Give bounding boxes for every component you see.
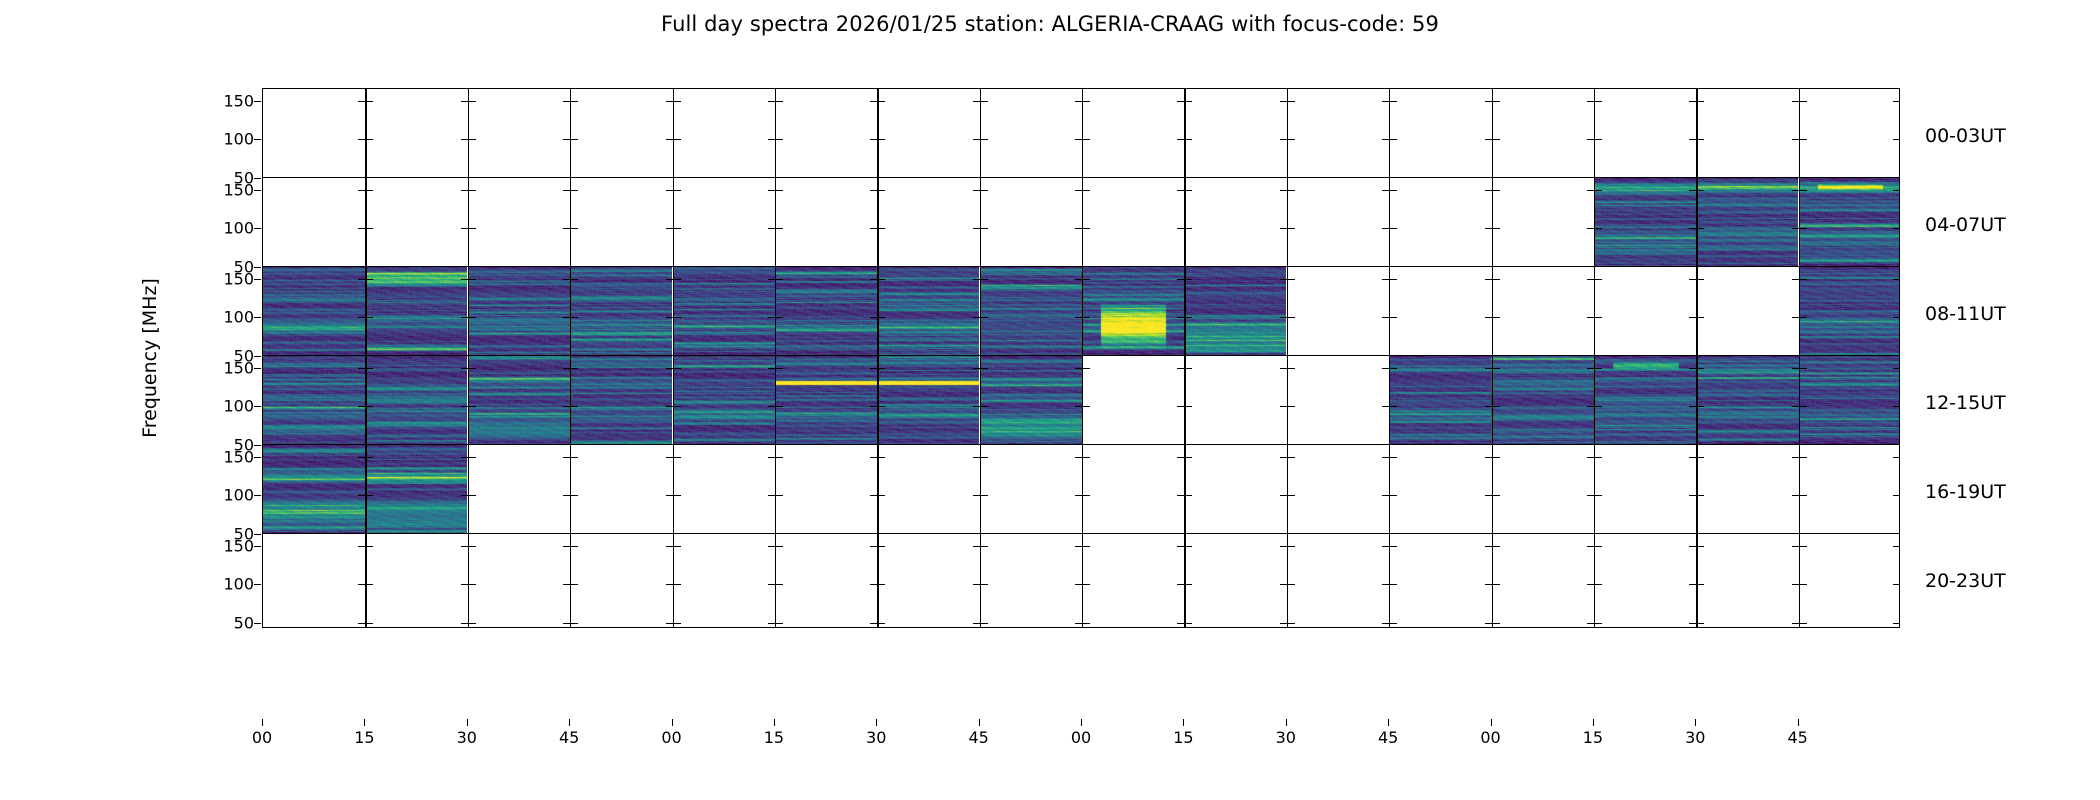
inner-y-tick — [571, 190, 578, 191]
spectrogram-segment — [468, 356, 570, 449]
spectrogram-segment — [570, 267, 672, 360]
inner-y-tick — [1595, 495, 1602, 496]
inner-y-tick — [1493, 495, 1500, 496]
inner-y-tick — [1800, 457, 1807, 458]
inner-y-tick — [1390, 584, 1397, 585]
inner-y-tick — [469, 457, 476, 458]
spectrogram-segment — [1799, 356, 1900, 449]
subpanel-separator — [570, 178, 571, 271]
inner-y-tick — [973, 228, 980, 229]
y-axis-tick — [254, 279, 261, 280]
y-axis-tick — [254, 317, 261, 318]
row-time-label: 16-19UT — [1925, 481, 2006, 503]
inner-y-tick — [1083, 368, 1090, 369]
subpanel-separator — [980, 89, 981, 182]
y-axis-tick-label: 150 — [182, 536, 254, 555]
inner-y-tick — [1485, 546, 1492, 547]
inner-y-tick — [776, 101, 783, 102]
inner-y-tick — [1893, 546, 1900, 547]
subpanel-separator — [1696, 445, 1697, 538]
inner-y-tick — [674, 495, 681, 496]
inner-y-tick — [666, 139, 673, 140]
x-axis-tick — [364, 719, 365, 726]
inner-y-tick — [1390, 623, 1397, 624]
subpanel-separator — [468, 178, 469, 271]
inner-y-tick — [1185, 101, 1192, 102]
inner-y-tick — [1382, 190, 1389, 191]
inner-y-tick — [1485, 139, 1492, 140]
spectrogram-data-block — [1594, 178, 1900, 272]
inner-y-tick — [1697, 279, 1704, 280]
subpanel-separator — [1287, 89, 1288, 182]
inner-y-tick — [1288, 139, 1295, 140]
inner-y-tick — [878, 228, 885, 229]
inner-y-tick — [1382, 317, 1389, 318]
inner-y-tick — [776, 139, 783, 140]
inner-y-tick — [870, 495, 877, 496]
inner-y-tick — [1280, 495, 1287, 496]
subpanel-separator — [1594, 534, 1595, 627]
subpanel-separator — [468, 89, 469, 182]
x-axis-tick — [1183, 719, 1184, 726]
y-axis-tick-label: 100 — [182, 397, 254, 416]
x-axis-tick-label: 30 — [1685, 728, 1705, 747]
subpanel-separator — [1389, 89, 1390, 182]
inner-y-tick — [1177, 623, 1184, 624]
inner-y-tick — [1493, 623, 1500, 624]
inner-y-tick — [981, 584, 988, 585]
inner-y-tick — [358, 101, 365, 102]
subpanel-separator — [365, 178, 366, 271]
x-axis-tick — [1286, 719, 1287, 726]
y-axis-tick — [254, 546, 261, 547]
inner-y-tick — [1390, 317, 1397, 318]
x-axis-tick-label: 30 — [866, 728, 886, 747]
spectrogram-segment — [1082, 267, 1184, 360]
inner-y-tick — [461, 101, 468, 102]
y-axis-tick-label: 150 — [182, 358, 254, 377]
inner-y-tick — [1587, 279, 1594, 280]
inner-y-tick — [1280, 228, 1287, 229]
inner-y-tick — [461, 139, 468, 140]
x-axis-tick-label: 45 — [1787, 728, 1807, 747]
x-axis-tick — [876, 719, 877, 726]
spectrogram-data-block — [1389, 356, 1900, 450]
inner-y-tick — [1083, 190, 1090, 191]
inner-y-tick — [358, 546, 365, 547]
inner-y-tick — [1177, 495, 1184, 496]
inner-y-tick — [1390, 279, 1397, 280]
x-axis-tick — [262, 719, 263, 726]
x-axis-tick — [1593, 719, 1594, 726]
spectrogram-segment — [775, 267, 877, 360]
inner-y-tick — [1288, 317, 1295, 318]
inner-y-tick — [981, 228, 988, 229]
subpanel-separator — [1184, 445, 1185, 538]
x-axis-tick — [1491, 719, 1492, 726]
spectrogram-data-block — [1799, 267, 1900, 361]
inner-y-tick — [674, 190, 681, 191]
y-axis-tick-label: 100 — [182, 130, 254, 149]
inner-y-tick — [1792, 623, 1799, 624]
inner-y-tick — [1485, 457, 1492, 458]
inner-y-tick — [1595, 623, 1602, 624]
inner-y-tick — [1288, 279, 1295, 280]
inner-y-tick — [1185, 228, 1192, 229]
inner-y-tick — [1177, 139, 1184, 140]
inner-y-tick — [1587, 623, 1594, 624]
inner-y-tick — [1595, 457, 1602, 458]
inner-y-tick — [666, 101, 673, 102]
spectrogram-segment — [1491, 356, 1593, 449]
inner-y-tick — [358, 190, 365, 191]
inner-y-tick — [1493, 584, 1500, 585]
inner-y-tick — [1177, 457, 1184, 458]
inner-y-tick — [768, 228, 775, 229]
spectrogram-segment — [673, 356, 775, 449]
inner-y-tick — [674, 101, 681, 102]
inner-y-tick — [1382, 139, 1389, 140]
inner-y-tick — [1185, 623, 1192, 624]
inner-y-tick — [878, 457, 885, 458]
spectrogram-segment — [468, 267, 570, 360]
spectrogram-segment — [1696, 178, 1798, 271]
inner-y-tick — [878, 546, 885, 547]
inner-y-tick — [981, 190, 988, 191]
inner-y-tick — [366, 101, 373, 102]
inner-y-tick — [1083, 228, 1090, 229]
inner-y-tick — [768, 101, 775, 102]
inner-y-tick — [1280, 139, 1287, 140]
inner-y-tick — [776, 228, 783, 229]
y-axis-tick-label: 100 — [182, 486, 254, 505]
subpanel-separator — [1389, 534, 1390, 627]
inner-y-tick — [1792, 101, 1799, 102]
y-axis-tick — [254, 228, 261, 229]
subpanel-separator — [1492, 445, 1493, 538]
inner-y-tick — [563, 546, 570, 547]
y-axis-tick — [254, 406, 261, 407]
inner-y-tick — [461, 623, 468, 624]
y-axis-tick-label: 50 — [182, 614, 254, 633]
x-axis-tick-label: 15 — [1173, 728, 1193, 747]
subpanel-separators — [263, 89, 1899, 182]
inner-y-tick — [563, 190, 570, 191]
inner-y-tick — [571, 495, 578, 496]
subpanel-separator — [1696, 89, 1697, 182]
spectrogram-segment — [1799, 267, 1900, 360]
subpanel-separator — [673, 89, 674, 182]
subpanel-separator — [877, 445, 878, 538]
inner-y-tick — [469, 623, 476, 624]
inner-y-tick — [358, 584, 365, 585]
spectrogram-row — [262, 355, 1900, 450]
inner-y-tick — [571, 228, 578, 229]
spectrogram-row — [262, 88, 1900, 183]
inner-y-tick — [1587, 101, 1594, 102]
subpanel-separator — [673, 534, 674, 627]
inner-y-tick — [1493, 101, 1500, 102]
x-axis-tick-label: 00 — [252, 728, 272, 747]
x-axis-tick — [467, 719, 468, 726]
inner-y-tick — [1382, 368, 1389, 369]
subpanel-separator — [980, 534, 981, 627]
inner-y-tick — [666, 623, 673, 624]
inner-y-tick — [563, 457, 570, 458]
inner-y-tick — [666, 546, 673, 547]
inner-y-tick — [1083, 623, 1090, 624]
subpanel-separator — [1389, 267, 1390, 360]
inner-y-tick — [666, 190, 673, 191]
inner-y-tick — [366, 228, 373, 229]
inner-y-tick — [1792, 546, 1799, 547]
inner-y-tick — [469, 228, 476, 229]
inner-y-tick — [1493, 279, 1500, 280]
inner-y-tick — [1280, 406, 1287, 407]
inner-y-tick — [366, 623, 373, 624]
inner-y-tick — [1288, 228, 1295, 229]
inner-y-tick — [1075, 623, 1082, 624]
y-axis-tick-label: 100 — [182, 308, 254, 327]
inner-y-tick — [563, 101, 570, 102]
inner-y-tick — [1689, 101, 1696, 102]
inner-y-tick — [563, 139, 570, 140]
x-axis-tick — [569, 719, 570, 726]
inner-y-tick — [666, 457, 673, 458]
inner-y-tick — [469, 190, 476, 191]
inner-y-tick — [563, 228, 570, 229]
inner-y-tick — [1280, 623, 1287, 624]
inner-y-tick — [1390, 546, 1397, 547]
inner-y-tick — [973, 623, 980, 624]
inner-y-tick — [973, 495, 980, 496]
inner-y-tick — [870, 546, 877, 547]
inner-y-tick — [981, 495, 988, 496]
inner-y-tick — [1493, 139, 1500, 140]
subpanel-separator — [1594, 89, 1595, 182]
inner-y-tick — [1288, 190, 1295, 191]
y-axis-tick — [254, 457, 261, 458]
inner-y-tick — [981, 623, 988, 624]
spectrogram-segment — [980, 356, 1082, 449]
x-axis-tick-label: 15 — [354, 728, 374, 747]
y-axis-tick — [254, 445, 261, 446]
inner-y-tick — [1382, 546, 1389, 547]
y-axis-tick — [254, 584, 261, 585]
inner-y-tick — [674, 546, 681, 547]
inner-y-tick — [1697, 546, 1704, 547]
subpanel-separator — [1184, 89, 1185, 182]
y-axis-tick — [254, 356, 261, 357]
subpanel-separator — [1184, 534, 1185, 627]
subpanel-separator — [1799, 89, 1800, 182]
inner-y-tick — [1390, 495, 1397, 496]
inner-y-tick — [1800, 584, 1807, 585]
inner-y-tick — [768, 584, 775, 585]
inner-y-tick — [1288, 457, 1295, 458]
inner-y-tick — [1595, 546, 1602, 547]
inner-y-tick — [870, 139, 877, 140]
spectrogram-segment — [775, 356, 877, 449]
inner-y-tick — [1485, 190, 1492, 191]
inner-y-tick — [870, 101, 877, 102]
inner-y-tick — [776, 546, 783, 547]
subpanel-separator — [775, 534, 776, 627]
inner-y-tick — [469, 584, 476, 585]
spectrogram-segment — [263, 267, 365, 360]
x-axis-tick-label: 00 — [661, 728, 681, 747]
inner-y-tick — [469, 495, 476, 496]
inner-y-tick — [776, 457, 783, 458]
inner-y-tick — [878, 495, 885, 496]
row-time-label: 04-07UT — [1925, 214, 2006, 236]
x-axis-tick-label: 45 — [968, 728, 988, 747]
subpanel-separator — [877, 178, 878, 271]
y-axis-tick — [254, 178, 261, 179]
inner-y-tick — [1177, 228, 1184, 229]
subpanel-separator — [1287, 178, 1288, 271]
inner-y-tick — [469, 546, 476, 547]
x-axis-tick — [774, 719, 775, 726]
inner-y-tick — [1493, 317, 1500, 318]
x-axis-tick-label: 00 — [1480, 728, 1500, 747]
inner-y-tick — [366, 546, 373, 547]
y-axis-tick — [254, 190, 261, 191]
inner-y-tick — [1893, 584, 1900, 585]
inner-y-tick — [1075, 101, 1082, 102]
inner-y-tick — [563, 495, 570, 496]
inner-y-tick — [1697, 457, 1704, 458]
spectrogram-segment — [980, 267, 1082, 360]
inner-y-tick — [973, 101, 980, 102]
spectrogram-segment — [365, 356, 467, 449]
subpanel-separator — [775, 89, 776, 182]
inner-y-tick — [870, 623, 877, 624]
inner-y-tick — [1390, 457, 1397, 458]
spectrogram-segment — [1594, 356, 1696, 449]
inner-y-tick — [1390, 190, 1397, 191]
inner-y-tick — [1893, 623, 1900, 624]
inner-y-tick — [1800, 546, 1807, 547]
inner-y-tick — [1587, 139, 1594, 140]
inner-y-tick — [768, 546, 775, 547]
inner-y-tick — [1280, 368, 1287, 369]
inner-y-tick — [571, 101, 578, 102]
subpanel-separator — [1799, 445, 1800, 538]
inner-y-tick — [1697, 139, 1704, 140]
inner-y-tick — [1083, 406, 1090, 407]
inner-y-tick — [870, 190, 877, 191]
subpanel-separator — [1287, 356, 1288, 449]
inner-y-tick — [563, 584, 570, 585]
inner-y-tick — [1185, 495, 1192, 496]
inner-y-tick — [1485, 584, 1492, 585]
subpanel-separator — [1492, 89, 1493, 182]
inner-y-tick — [674, 584, 681, 585]
inner-y-tick — [1697, 584, 1704, 585]
inner-y-tick — [1792, 139, 1799, 140]
inner-y-tick — [1587, 495, 1594, 496]
spectrogram-segment — [365, 445, 467, 538]
inner-y-tick — [1185, 457, 1192, 458]
inner-y-tick — [666, 495, 673, 496]
inner-y-tick — [1792, 457, 1799, 458]
subpanel-separator — [570, 445, 571, 538]
inner-y-tick — [1697, 495, 1704, 496]
inner-y-tick — [1382, 623, 1389, 624]
inner-y-tick — [1280, 190, 1287, 191]
inner-y-tick — [1177, 584, 1184, 585]
inner-y-tick — [1493, 457, 1500, 458]
x-axis-tick — [672, 719, 673, 726]
subpanel-separator — [877, 534, 878, 627]
inner-y-tick — [1382, 228, 1389, 229]
y-axis-tick-label: 150 — [182, 91, 254, 110]
subpanel-separator — [877, 89, 878, 182]
subpanel-separator — [570, 89, 571, 182]
inner-y-tick — [674, 139, 681, 140]
inner-y-tick — [1689, 495, 1696, 496]
inner-y-tick — [571, 546, 578, 547]
y-axis-tick — [254, 534, 261, 535]
spectrogram-figure: Full day spectra 2026/01/25 station: ALG… — [0, 0, 2100, 800]
inner-y-tick — [1288, 101, 1295, 102]
x-axis-tick — [1388, 719, 1389, 726]
inner-y-tick — [1382, 495, 1389, 496]
y-axis-tick-label: 100 — [182, 575, 254, 594]
spectrogram-row — [262, 177, 1900, 272]
inner-y-tick — [1083, 101, 1090, 102]
inner-y-tick — [768, 457, 775, 458]
inner-y-tick — [1083, 546, 1090, 547]
figure-title: Full day spectra 2026/01/25 station: ALG… — [0, 12, 2100, 36]
inner-y-tick — [1075, 457, 1082, 458]
inner-y-tick — [1083, 584, 1090, 585]
inner-y-tick — [358, 139, 365, 140]
inner-y-tick — [1185, 190, 1192, 191]
inner-y-tick — [358, 228, 365, 229]
subpanel-separator — [1184, 178, 1185, 271]
spectrogram-segment — [263, 445, 365, 538]
spectrogram-segment — [1594, 178, 1696, 271]
inner-y-tick — [1288, 495, 1295, 496]
subpanel-separator — [775, 178, 776, 271]
spectrogram-row — [262, 266, 1900, 361]
row-time-label: 20-23UT — [1925, 570, 2006, 592]
inner-y-tick — [878, 623, 885, 624]
spectrogram-row — [262, 444, 1900, 539]
y-axis-tick — [254, 139, 261, 140]
inner-y-tick — [1485, 228, 1492, 229]
inner-y-tick — [571, 584, 578, 585]
row-time-label: 08-11UT — [1925, 303, 2006, 325]
x-axis-tick-label: 45 — [559, 728, 579, 747]
subpanel-separator — [1184, 356, 1185, 449]
inner-y-tick — [1177, 546, 1184, 547]
y-axis-tick — [254, 101, 261, 102]
inner-y-tick — [1587, 457, 1594, 458]
x-axis-tick-label: 15 — [1583, 728, 1603, 747]
inner-y-tick — [1280, 457, 1287, 458]
subpanel-separator — [1492, 178, 1493, 271]
inner-y-tick — [1083, 139, 1090, 140]
y-axis-tick-label: 150 — [182, 269, 254, 288]
inner-y-tick — [870, 457, 877, 458]
inner-y-tick — [674, 228, 681, 229]
inner-y-tick — [776, 495, 783, 496]
inner-y-tick — [1185, 546, 1192, 547]
x-axis-tick-label: 00 — [1071, 728, 1091, 747]
